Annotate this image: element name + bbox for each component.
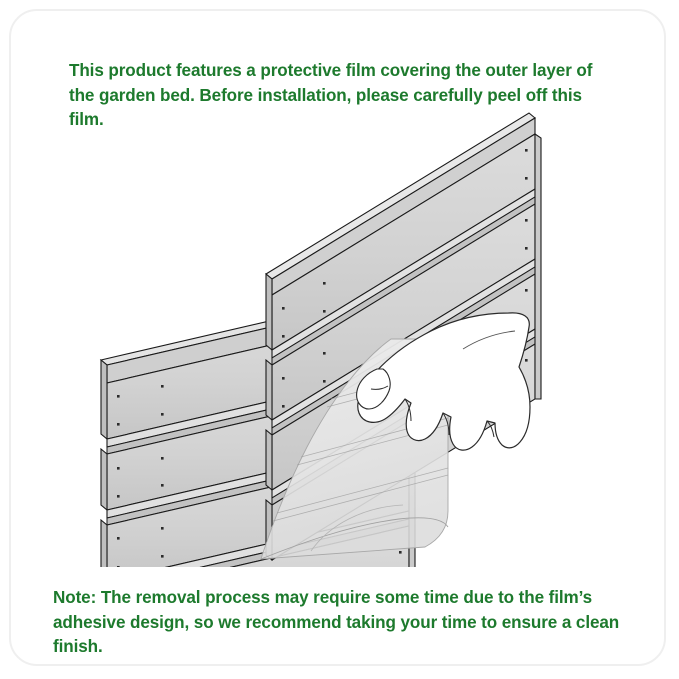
bottom-note-text: Note: The removal process may require so… — [53, 586, 629, 660]
garden-bed-panel-film-peel-diagram — [11, 107, 664, 567]
instruction-card: This product features a protective film … — [9, 9, 666, 666]
